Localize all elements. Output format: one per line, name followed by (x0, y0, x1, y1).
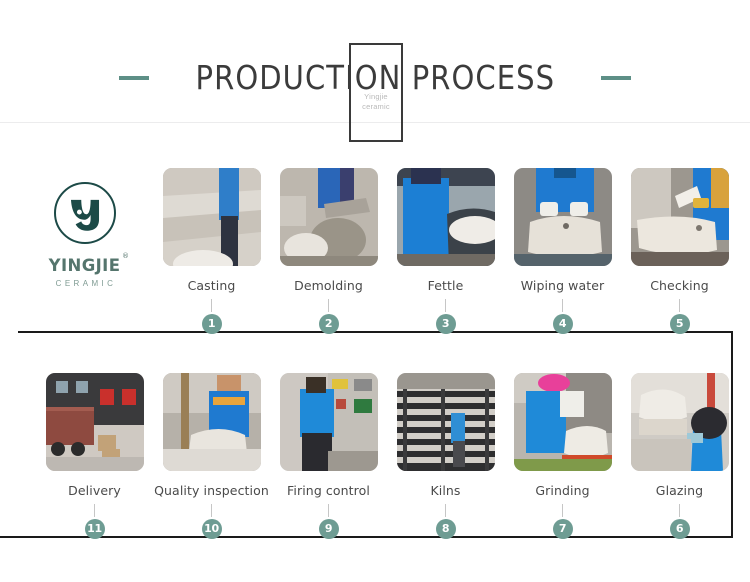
title-dash-left (119, 76, 149, 80)
step-tick (562, 299, 563, 312)
process-step-demolding[interactable]: Demolding 2 (270, 168, 387, 334)
process-step-kilns[interactable]: Kilns 8 (387, 373, 504, 539)
demolding-photo (280, 168, 378, 266)
step-tick (445, 299, 446, 312)
step-marker[interactable]: 11 (85, 519, 105, 539)
page-header: PRODUCTION PROCESS Yingjie ceramic (0, 0, 750, 160)
quality-inspection-photo (163, 373, 261, 471)
step-marker[interactable]: 1 (202, 314, 222, 334)
grinding-photo (514, 373, 612, 471)
fettle-photo (397, 168, 495, 266)
step-tick (679, 504, 680, 517)
step-marker[interactable]: 3 (436, 314, 456, 334)
watermark-line-1: Yingjie (349, 92, 403, 102)
step-label: Fettle (387, 278, 504, 293)
step-tick (679, 299, 680, 312)
wiping-water-photo (514, 168, 612, 266)
step-tick (211, 299, 212, 312)
step-marker[interactable]: 9 (319, 519, 339, 539)
step-marker[interactable]: 5 (670, 314, 690, 334)
checking-photo (631, 168, 729, 266)
process-step-wiping-water[interactable]: Wiping water 4 (504, 168, 621, 334)
watermark: Yingjie ceramic (349, 92, 403, 112)
step-label: Glazing (621, 483, 738, 498)
glazing-photo (631, 373, 729, 471)
step-label: Wiping water (504, 278, 621, 293)
step-label: Casting (153, 278, 270, 293)
process-step-casting[interactable]: Casting 1 (153, 168, 270, 334)
firing-control-photo (280, 373, 378, 471)
step-marker[interactable]: 4 (553, 314, 573, 334)
step-marker[interactable]: 10 (202, 519, 222, 539)
step-label: Kilns (387, 483, 504, 498)
casting-photo (163, 168, 261, 266)
process-step-firing-control[interactable]: Firing control 9 (270, 373, 387, 539)
process-row-2: Delivery 11 Quality inspection 10 (0, 373, 750, 539)
step-tick (328, 504, 329, 517)
step-marker[interactable]: 7 (553, 519, 573, 539)
watermark-line-2: ceramic (349, 102, 403, 112)
step-tick (562, 504, 563, 517)
step-label: Firing control (270, 483, 387, 498)
step-tick (94, 504, 95, 517)
step-label: Checking (621, 278, 738, 293)
step-marker[interactable]: 8 (436, 519, 456, 539)
kilns-photo (397, 373, 495, 471)
process-step-grinding[interactable]: Grinding 7 (504, 373, 621, 539)
step-label: Quality inspection (153, 483, 270, 498)
process-step-fettle[interactable]: Fettle 3 (387, 168, 504, 334)
process-row-1: Casting 1 Demolding 2 (0, 168, 750, 334)
step-label: Demolding (270, 278, 387, 293)
step-label: Delivery (36, 483, 153, 498)
process-step-delivery[interactable]: Delivery 11 (36, 373, 153, 539)
step-marker[interactable]: 2 (319, 314, 339, 334)
process-step-checking[interactable]: Checking 5 (621, 168, 738, 334)
title-dash-right (601, 76, 631, 80)
step-marker[interactable]: 6 (670, 519, 690, 539)
step-tick (445, 504, 446, 517)
step-tick (211, 504, 212, 517)
step-tick (328, 299, 329, 312)
process-step-glazing[interactable]: Glazing 6 (621, 373, 738, 539)
process-step-quality-inspection[interactable]: Quality inspection 10 (153, 373, 270, 539)
step-label: Grinding (504, 483, 621, 498)
delivery-photo (46, 373, 144, 471)
